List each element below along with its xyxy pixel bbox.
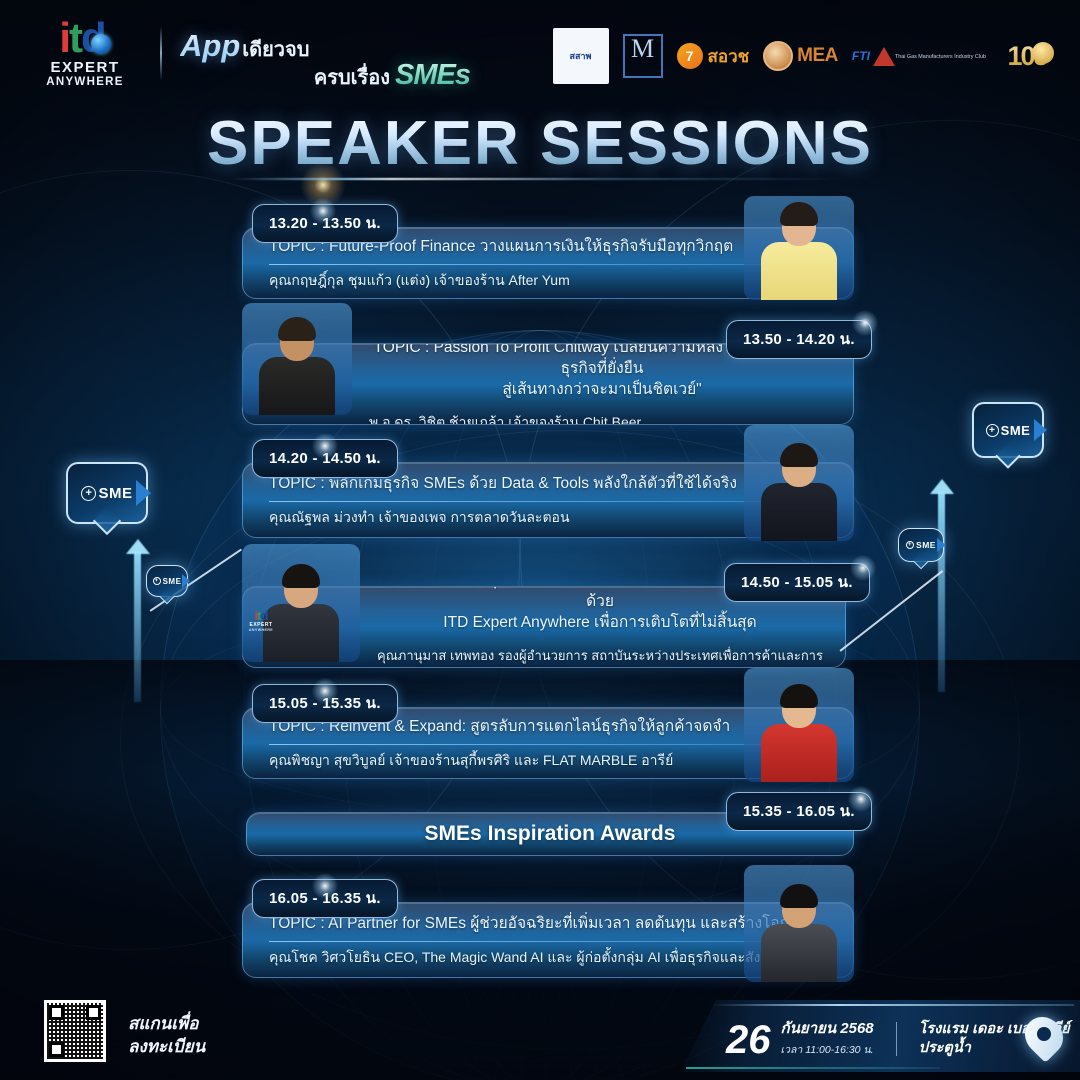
session-time-badge: 13.50 - 14.20 น. xyxy=(726,320,872,359)
plus-icon: + xyxy=(153,577,161,585)
speaker-portrait xyxy=(761,890,837,982)
header-divider xyxy=(160,26,162,80)
sponsor-label-fti: FTI xyxy=(852,49,870,63)
speaker-photo xyxy=(744,668,854,782)
speaker-portrait xyxy=(761,208,837,300)
plus-icon: + xyxy=(906,541,914,549)
sponsor-logo-row: สสาพ M 7 สอวช MEA FTI Thai Gas Manufactu… xyxy=(553,28,1055,84)
itd-logo-small: itd EXPERT ANYWHERE xyxy=(246,610,276,632)
session-item[interactable]: 13.20 - 13.50 น. TOPIC : Future-Proof Fi… xyxy=(0,196,1080,306)
event-month: กันยายน 2568 xyxy=(781,1020,874,1037)
event-day: 26 xyxy=(726,1022,771,1058)
tagline-smes: SMEs xyxy=(395,59,470,91)
itd-logo-expert: EXPERT xyxy=(30,59,140,76)
plus-icon: + xyxy=(986,424,999,437)
sme-badge-right-large: +SME xyxy=(972,402,1044,458)
sparkle-icon xyxy=(312,873,338,899)
session-item[interactable]: 15.35 - 16.05 น. SMEs Inspiration Awards xyxy=(0,786,1080,874)
chevron-right-icon xyxy=(937,538,946,552)
session-speaker: พ.อ.ดร. วิชิต ช้ายเกล้า เจ้าของร้าน Chit… xyxy=(351,413,853,426)
sme-badge-left-large: +SME xyxy=(66,462,148,524)
growth-beam-left xyxy=(134,552,141,702)
session-topic-line2: ITD Expert Anywhere เพื่อการเติบโตที่ไม่… xyxy=(355,612,845,633)
divider xyxy=(896,1022,897,1056)
sparkle-icon xyxy=(312,433,338,459)
qr-code[interactable] xyxy=(44,1000,106,1062)
triangle-icon xyxy=(873,47,895,66)
session-item[interactable]: 13.50 - 14.20 น. TOPIC : Passion To Prof… xyxy=(0,306,1080,431)
sme-badge-right-small: +SME xyxy=(898,528,944,562)
sponsor-logo-anniversary: 105 xyxy=(1000,32,1054,80)
speaker-portrait xyxy=(761,690,837,782)
sponsor-caption-fti: Thai Gas Manufacturers Industry Club xyxy=(895,54,986,61)
header-tagline: Appเดียวจบ ครบเรื่องSMEs xyxy=(180,28,470,88)
poster-root: itd EXPERT ANYWHERE Appเดียวจบ ครบเรื่อง… xyxy=(0,0,1080,1080)
anniversary-ring-icon xyxy=(1032,42,1054,64)
scan-instruction: สแกนเพื่อ ลงทะเบียน xyxy=(128,1012,205,1058)
itd-logo-wordmark: itd xyxy=(30,18,140,58)
sme-badge-label: SME xyxy=(916,540,936,550)
plus-icon: + xyxy=(81,486,96,501)
chevron-right-icon xyxy=(182,574,190,588)
page-title-wrap: SPEAKER SESSIONS xyxy=(0,108,1080,179)
speaker-photo xyxy=(744,425,854,541)
sparkle-icon xyxy=(850,555,876,581)
tagline-thai-2: ครบเรื่อง xyxy=(314,67,390,89)
globe-icon xyxy=(91,34,111,54)
speaker-photo: itd EXPERT ANYWHERE xyxy=(242,544,360,662)
itd-small-anywhere: ANYWHERE xyxy=(246,628,276,632)
scan-line-1: สแกนเพื่อ xyxy=(128,1012,205,1035)
sponsor-seal-mea xyxy=(763,41,793,71)
speaker-photo xyxy=(242,303,352,415)
speaker-portrait xyxy=(761,449,837,541)
sponsor-logo-sawat: สสาพ xyxy=(553,28,609,84)
session-speaker: คุณภานุมาส เทพทอง รองผู้อำนวยการ สถาบันร… xyxy=(355,646,845,668)
sme-badge-left-small: +SME xyxy=(146,565,188,597)
speaker-portrait xyxy=(259,323,335,415)
sponsor-label-sawat: สสาพ xyxy=(570,49,592,63)
scan-line-2: ลงทะเบียน xyxy=(128,1035,205,1058)
session-topic-line2: สู่เส้นทางกว่าจะมาเป็นชิตเวย์" xyxy=(351,379,853,400)
header-bar: itd EXPERT ANYWHERE Appเดียวจบ ครบเรื่อง… xyxy=(0,0,1080,104)
sponsor-mark-sor: 7 xyxy=(677,43,703,69)
speaker-photo xyxy=(744,196,854,300)
sme-badge-label: SME xyxy=(1001,423,1031,438)
sparkle-icon xyxy=(310,198,336,224)
page-title: SPEAKER SESSIONS xyxy=(0,108,1080,179)
itd-logo: itd EXPERT ANYWHERE xyxy=(30,18,140,88)
session-item[interactable]: 16.05 - 16.35 น. TOPIC : AI Partner for … xyxy=(0,874,1080,984)
sme-badge-label: SME xyxy=(163,577,182,586)
chevron-right-icon xyxy=(1034,419,1047,441)
event-time: เวลา 11:00-16:30 น. xyxy=(781,1044,874,1056)
sparkle-icon xyxy=(312,678,338,704)
sparkle-icon xyxy=(852,310,878,336)
itd-logo-anywhere: ANYWHERE xyxy=(30,76,140,88)
sme-badge-label: SME xyxy=(98,485,132,502)
sparkle-icon xyxy=(848,786,874,812)
tagline-thai-1: เดียวจบ xyxy=(242,39,309,61)
chevron-right-icon xyxy=(136,480,151,506)
sponsor-logo-mea: MEA xyxy=(763,41,838,71)
location-pin-icon xyxy=(1026,1016,1062,1056)
sponsor-label-sor: สอวช xyxy=(708,43,750,70)
footer-bar: สแกนเพื่อ ลงทะเบียน 26 กันยายน 2568 เวลา… xyxy=(0,980,1080,1080)
speaker-photo xyxy=(744,865,854,982)
sponsor-logo-fti-gas: FTI Thai Gas Manufacturers Industry Club xyxy=(852,47,986,66)
tagline-app: App xyxy=(180,28,240,63)
sponsor-label-m: M xyxy=(631,36,654,62)
sponsor-label-mea: MEA xyxy=(797,45,838,67)
session-time-badge: 14.50 - 15.05 น. xyxy=(724,563,870,602)
sponsor-mark-fti: FTI xyxy=(852,47,895,66)
sponsor-logo-m: M xyxy=(623,34,663,78)
event-details-bar: 26 กันยายน 2568 เวลา 11:00-16:30 น. โรงแ… xyxy=(680,1000,1080,1072)
sponsor-logo-sor-or-por: 7 สอวช xyxy=(677,43,750,70)
session-item[interactable]: 15.05 - 15.35 น. TOPIC : Reinvent & Expa… xyxy=(0,676,1080,786)
growth-beam-right xyxy=(938,492,945,692)
venue-line-2: ประตูน้ำ xyxy=(919,1040,971,1056)
